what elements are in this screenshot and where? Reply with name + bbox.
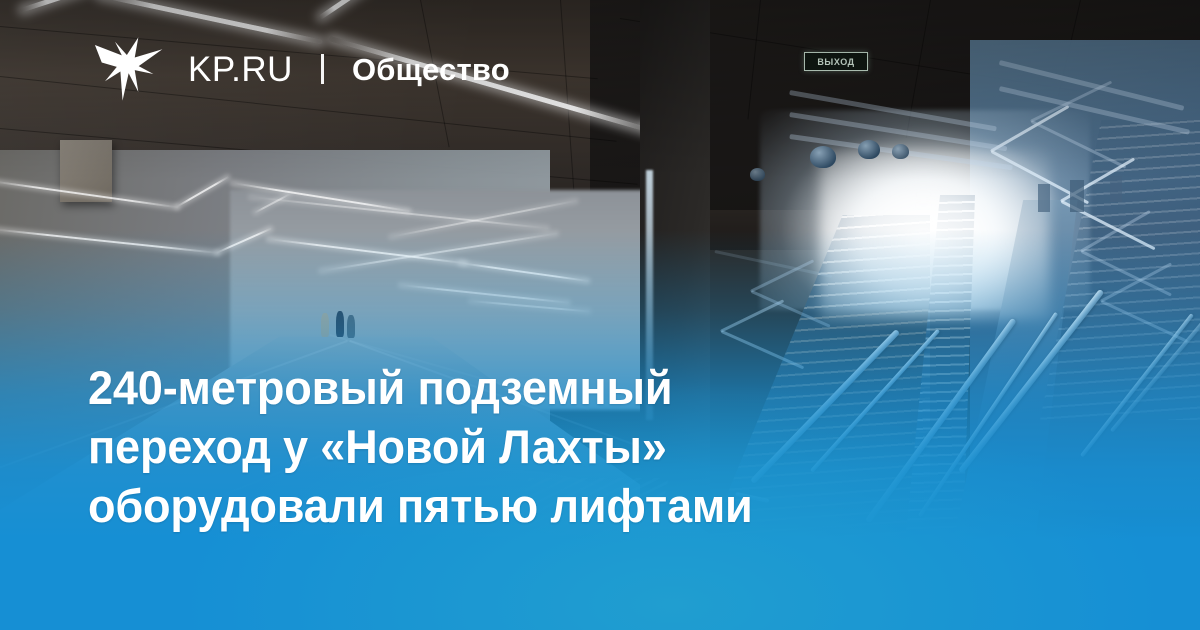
dome-lamp	[892, 144, 909, 159]
exit-sign-label: ВЫХОД	[817, 57, 854, 67]
wall-reflection-line	[720, 299, 784, 332]
brand-name[interactable]: KP.RU	[188, 52, 293, 87]
header-divider	[321, 54, 324, 84]
exit-daylight-core	[820, 150, 1050, 320]
pedestrian	[347, 315, 355, 338]
brand-header: KP.RU Общество	[92, 36, 510, 102]
dome-lamp	[750, 168, 765, 181]
wall-fixture	[1070, 180, 1084, 212]
share-card-canvas: ВЫХОД KP.RU Общество 240-метровый подзем…	[0, 0, 1200, 630]
pedestrian	[336, 311, 344, 337]
dome-lamp	[810, 146, 836, 168]
rubric-label[interactable]: Общество	[352, 54, 510, 85]
swallow-bird-logo-icon[interactable]	[92, 36, 166, 102]
wall-fixture	[1038, 184, 1050, 212]
pedestrian	[321, 313, 329, 337]
dome-lamp	[858, 140, 880, 159]
wall-fixture	[1110, 176, 1122, 202]
headline: 240-метровый подземный переход у «Новой …	[88, 358, 952, 536]
headline-line-1: 240-метровый подземный	[88, 358, 952, 417]
exit-sign: ВЫХОД	[804, 52, 868, 71]
headline-line-3: оборудовали пятью лифтами	[88, 476, 952, 535]
headline-line-2: переход у «Новой Лахты»	[88, 417, 952, 476]
